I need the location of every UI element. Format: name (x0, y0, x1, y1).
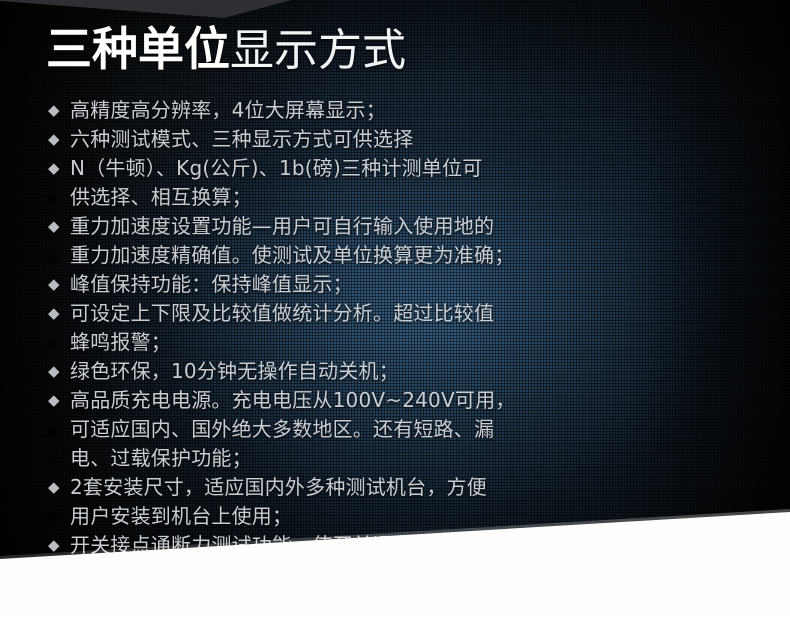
diamond-bullet-icon: ◆ (48, 212, 70, 241)
feature-line-continued: ◆供选择、相互换算； (48, 183, 748, 212)
bullet-indent-spacer: ◆ (48, 183, 70, 212)
feature-line-primary: ◆重力加速度设置功能—用户可自行输入使用地的 (48, 212, 748, 241)
feature-line-primary: ◆2套安装尺寸，适应国内外多种测试机台，方便 (48, 473, 748, 502)
feature-text: 高品质充电电源。充电电压从100V~240V可用， (70, 386, 515, 415)
feature-text: 绿色环保，10分钟无操作自动关机； (70, 357, 399, 386)
diamond-bullet-icon: ◆ (48, 357, 70, 386)
diamond-bullet-icon: ◆ (48, 125, 70, 154)
diamond-bullet-icon: ◆ (48, 96, 70, 125)
feature-text: 用户安装到机台上使用； (70, 502, 292, 531)
feature-item: ◆峰值保持功能：保持峰值显示； (48, 270, 748, 299)
feature-text: 供选择、相互换算； (70, 183, 252, 212)
feature-line-continued: ◆蜂鸣报警； (48, 328, 748, 357)
feature-line-primary: ◆六种测试模式、三种显示方式可供选择 (48, 125, 748, 154)
feature-line-continued: ◆重力加速度精确值。使测试及单位换算更为准确； (48, 241, 748, 270)
feature-item: ◆高品质充电电源。充电电压从100V~240V可用，◆可适应国内、国外绝大多数地… (48, 386, 748, 473)
bullet-indent-spacer: ◆ (48, 502, 70, 531)
product-feature-poster: 三种单位显示方式 ◆高精度高分辨率，4位大屏幕显示；◆六种测试模式、三种显示方式… (0, 0, 790, 617)
bullet-indent-spacer: ◆ (48, 241, 70, 270)
feature-item: ◆N（牛顿）、Kg(公斤)、1b(磅)三种计测单位可◆供选择、相互换算； (48, 154, 748, 212)
page-title: 三种单位显示方式 (46, 26, 406, 73)
feature-text: 2套安装尺寸，适应国内外多种测试机台，方便 (70, 473, 487, 502)
feature-line-primary: ◆N（牛顿）、Kg(公斤)、1b(磅)三种计测单位可 (48, 154, 748, 183)
diamond-bullet-icon: ◆ (48, 270, 70, 299)
feature-text: 可适应国内、国外绝大多数地区。还有短路、漏 (70, 415, 494, 444)
bullet-indent-spacer: ◆ (48, 444, 70, 473)
feature-line-primary: ◆可设定上下限及比较值做统计分析。超过比较值 (48, 299, 748, 328)
feature-line-primary: ◆峰值保持功能：保持峰值显示； (48, 270, 748, 299)
feature-bullet-list: ◆高精度高分辨率，4位大屏幕显示；◆六种测试模式、三种显示方式可供选择◆N（牛顿… (48, 96, 748, 589)
feature-text: 高精度高分辨率，4位大屏幕显示； (70, 96, 386, 125)
feature-line-continued: ◆可适应国内、国外绝大多数地区。还有短路、漏 (48, 415, 748, 444)
diamond-bullet-icon: ◆ (48, 299, 70, 328)
feature-line-primary: ◆高精度高分辨率，4位大屏幕显示； (48, 96, 748, 125)
page-title-light: 显示方式 (230, 25, 406, 76)
diamond-bullet-icon: ◆ (48, 386, 70, 415)
feature-text: 可设定上下限及比较值做统计分析。超过比较值 (70, 299, 494, 328)
feature-item: ◆绿色环保，10分钟无操作自动关机； (48, 357, 748, 386)
feature-item: ◆六种测试模式、三种显示方式可供选择 (48, 125, 748, 154)
feature-item: ◆高精度高分辨率，4位大屏幕显示； (48, 96, 748, 125)
diamond-bullet-icon: ◆ (48, 154, 70, 183)
feature-text: N（牛顿）、Kg(公斤)、1b(磅)三种计测单位可 (70, 154, 482, 183)
page-title-strong: 三种单位 (46, 22, 230, 76)
feature-text: 峰值保持功能：保持峰值显示； (70, 270, 353, 299)
diamond-bullet-icon: ◆ (48, 473, 70, 502)
feature-text: 重力加速度设置功能—用户可自行输入使用地的 (70, 212, 494, 241)
bullet-indent-spacer: ◆ (48, 328, 70, 357)
feature-item: ◆重力加速度设置功能—用户可自行输入使用地的◆重力加速度精确值。使测试及单位换算… (48, 212, 748, 270)
feature-item: ◆可设定上下限及比较值做统计分析。超过比较值◆蜂鸣报警； (48, 299, 748, 357)
feature-line-continued: ◆电、过载保护功能； (48, 444, 748, 473)
feature-text: 蜂鸣报警； (70, 328, 171, 357)
bullet-indent-spacer: ◆ (48, 415, 70, 444)
feature-text: 重力加速度精确值。使测试及单位换算更为准确； (70, 241, 514, 270)
feature-text: 电、过载保护功能； (70, 444, 252, 473)
feature-line-primary: ◆高品质充电电源。充电电压从100V~240V可用， (48, 386, 748, 415)
feature-text: 六种测试模式、三种显示方式可供选择 (70, 125, 413, 154)
feature-line-primary: ◆绿色环保，10分钟无操作自动关机； (48, 357, 748, 386)
